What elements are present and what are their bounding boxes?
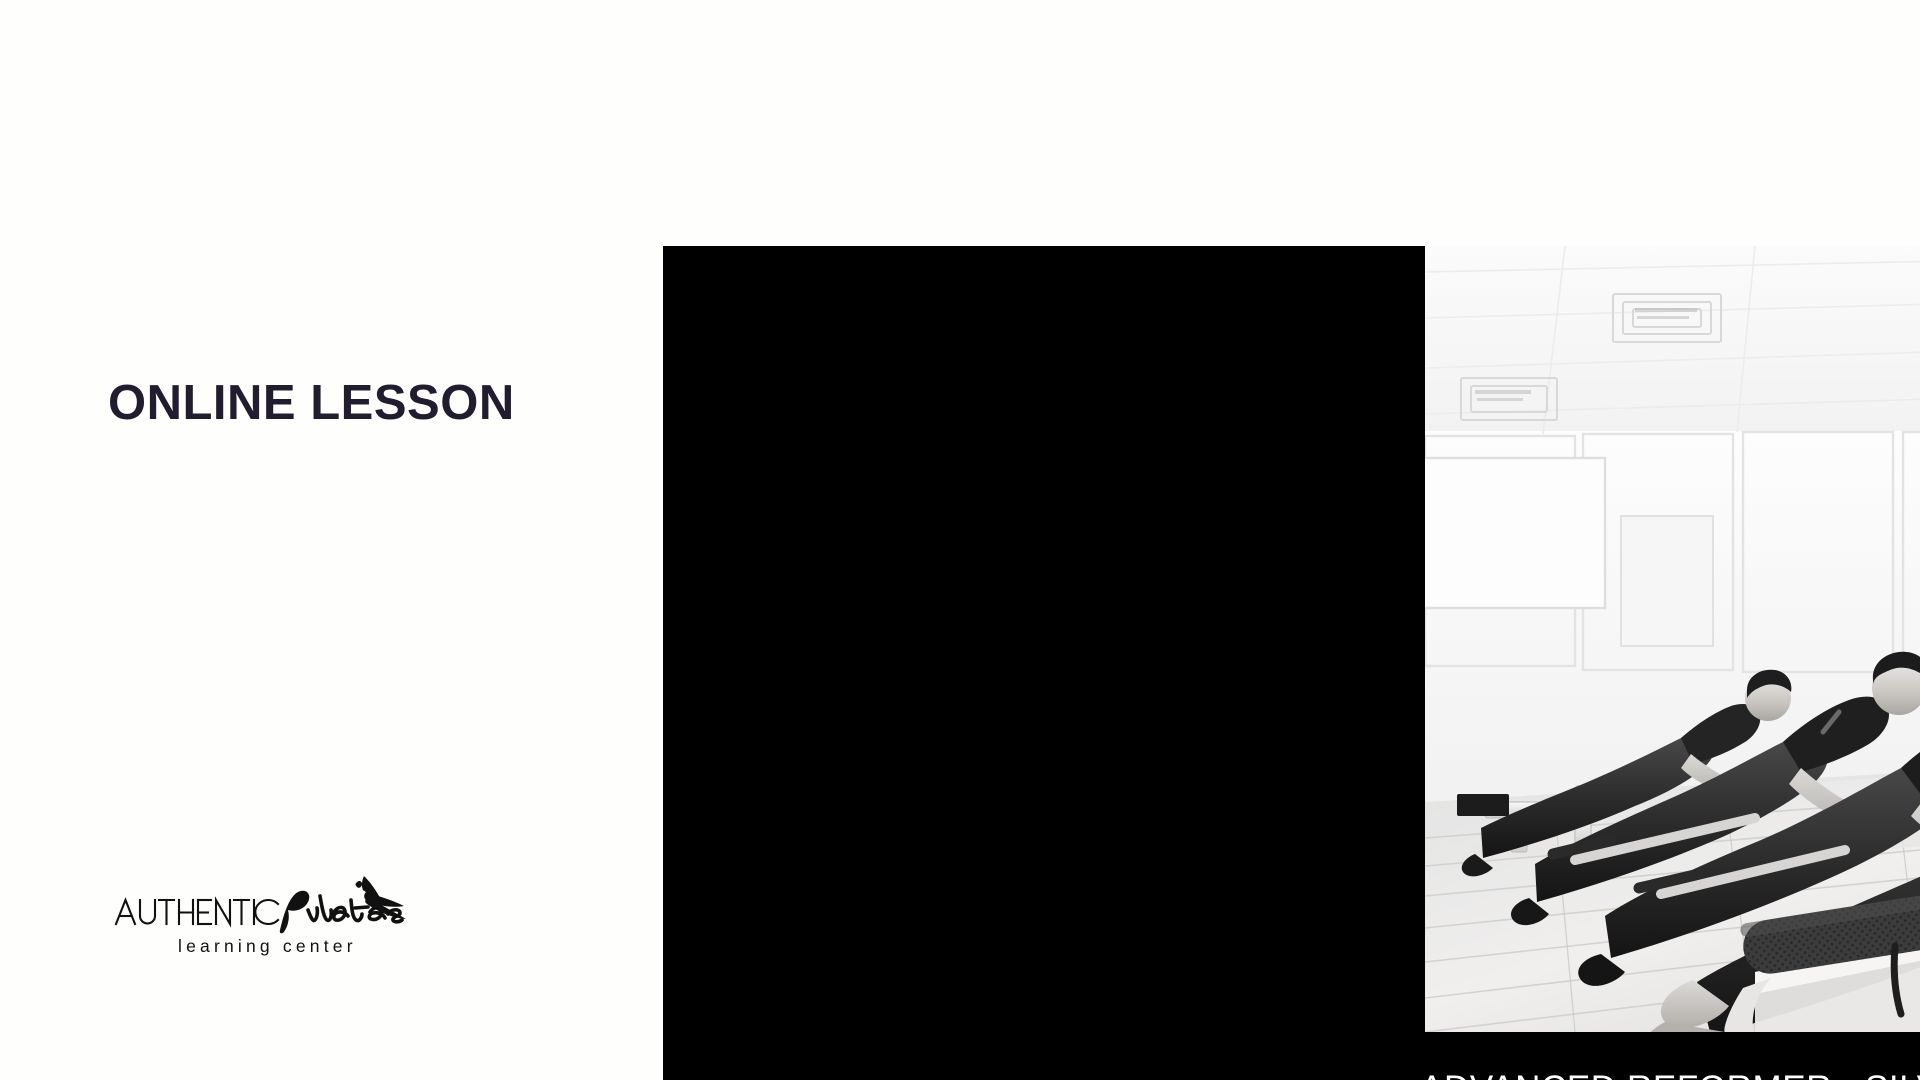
content-panel: ADVANCED REFORMER - SILVIA AUGUST/20/202… (663, 246, 1920, 1080)
slide-canvas: ONLINE LESSON (0, 0, 1920, 1080)
lesson-title: ADVANCED REFORMER - SILVIA (1420, 1066, 1920, 1080)
logo-artwork: learning center (112, 868, 412, 960)
lesson-photo (1425, 246, 1920, 1032)
brand-logo: learning center (112, 868, 412, 960)
lesson-details: ADVANCED REFORMER - SILVIA AUGUST/20/202… (1420, 1066, 1920, 1080)
logo-tagline: learning center (178, 936, 357, 956)
page-title: ONLINE LESSON (108, 379, 515, 428)
